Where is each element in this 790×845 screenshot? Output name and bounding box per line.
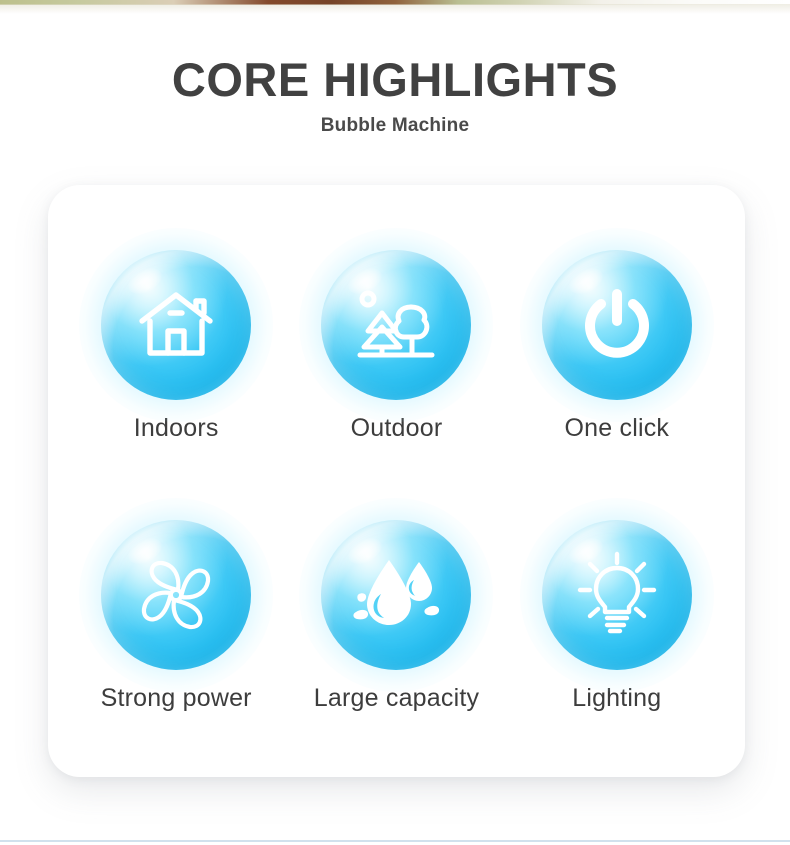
feature-item-large-capacity[interactable]: Large capacity [286, 481, 506, 751]
feature-item-outdoor[interactable]: Outdoor [286, 211, 506, 481]
bubble-large-capacity [321, 520, 471, 670]
feature-item-one-click[interactable]: One click [507, 211, 727, 481]
bubble-sphere [321, 520, 471, 670]
feature-label: Lighting [572, 684, 661, 713]
bottom-divider [0, 840, 790, 842]
page-title: CORE HIGHLIGHTS [0, 0, 790, 104]
feature-label: One click [565, 414, 670, 443]
bubble-one-click [542, 250, 692, 400]
bubble-sphere [542, 250, 692, 400]
trees-icon [354, 283, 438, 367]
lightbulb-icon [572, 550, 662, 640]
power-icon [576, 284, 658, 366]
water-drop-icon [351, 550, 441, 640]
fan-icon [130, 549, 222, 641]
feature-label: Strong power [101, 684, 252, 713]
bubble-sphere [101, 520, 251, 670]
feature-item-lighting[interactable]: Lighting [507, 481, 727, 751]
feature-label: Large capacity [314, 684, 479, 713]
house-icon [134, 283, 218, 367]
bubble-indoors [101, 250, 251, 400]
feature-label: Indoors [134, 414, 219, 443]
page-subtitle: Bubble Machine [0, 104, 790, 137]
bubble-sphere [321, 250, 471, 400]
bubble-sphere [101, 250, 251, 400]
feature-item-indoors[interactable]: Indoors [66, 211, 286, 481]
feature-label: Outdoor [351, 414, 443, 443]
header: CORE HIGHLIGHTS Bubble Machine [0, 0, 790, 137]
features-card: Indoors [48, 185, 745, 777]
features-grid: Indoors [48, 185, 745, 777]
bubble-outdoor [321, 250, 471, 400]
bubble-sphere [542, 520, 692, 670]
bubble-lighting [542, 520, 692, 670]
feature-item-strong-power[interactable]: Strong power [66, 481, 286, 751]
bubble-strong-power [101, 520, 251, 670]
